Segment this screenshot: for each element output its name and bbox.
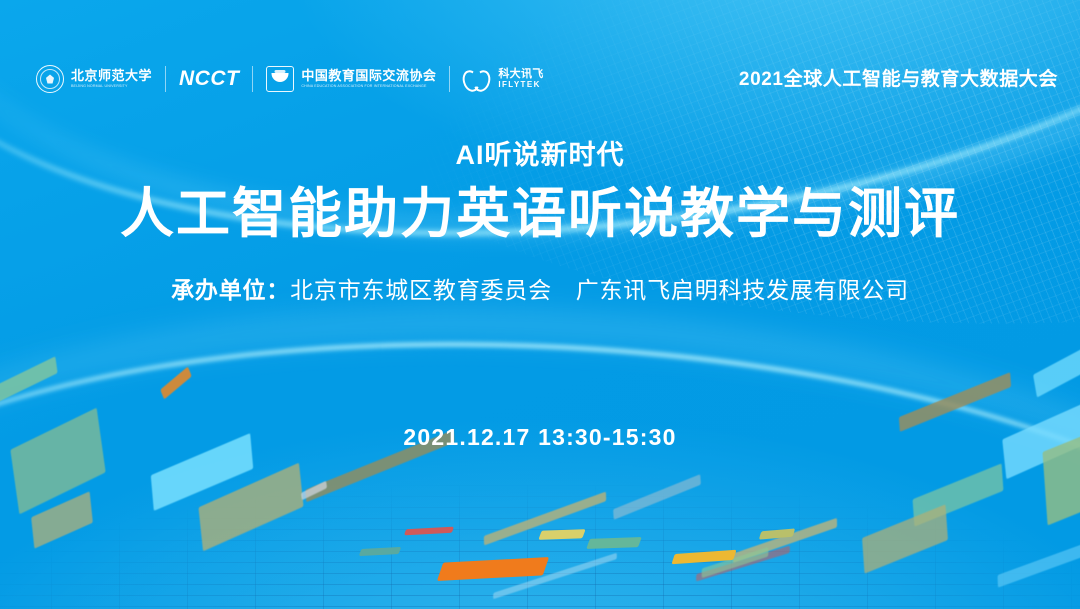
poster-main-content: AI听说新时代 人工智能助力英语听说教学与测评 承办单位：北京市东城区教育委员会… — [0, 138, 1080, 305]
decor-shard — [997, 544, 1080, 587]
decor-shard — [1033, 334, 1080, 397]
organizer-line: 承办单位：北京市东城区教育委员会 广东讯飞启明科技发展有限公司 — [0, 271, 1080, 305]
decor-shard — [31, 491, 93, 548]
logo-ceaie: 中国教育国际交流协会 CHINA EDUCATION ASSOCIATION F… — [253, 62, 449, 96]
decor-shard — [862, 504, 948, 573]
logo-iflytek-text: 科大讯飞 IFLYTEK — [498, 69, 543, 89]
decor-shard — [733, 518, 837, 563]
decor-shard — [913, 463, 1004, 526]
iflytek-logo-icon — [463, 68, 491, 90]
decor-shard — [0, 356, 58, 403]
decor-shard — [484, 492, 606, 546]
decor-chip — [359, 547, 401, 556]
decor-shard — [160, 367, 192, 400]
ncct-wordmark-icon: NCCT — [179, 67, 239, 91]
logo-ncct: NCCT — [166, 62, 252, 96]
decor-shard — [696, 545, 790, 581]
event-datetime: 2021.12.17 13:30-15:30 — [0, 424, 1080, 451]
sponsor-logo-bar: 北京师范大学 BEIJING NORMAL UNIVERSITY NCCT 中国… — [36, 62, 557, 96]
university-seal-icon — [36, 65, 64, 93]
organizer-value: 北京市东城区教育委员会 广东讯飞启明科技发展有限公司 — [290, 277, 909, 303]
decor-chip — [404, 527, 454, 536]
decor-chip — [759, 528, 795, 539]
kicker-text: AI听说新时代 — [0, 138, 1080, 173]
decor-chip — [671, 550, 736, 565]
logo-ceaie-cn: 中国教育国际交流协会 — [301, 69, 436, 83]
conference-poster: 北京师范大学 BEIJING NORMAL UNIVERSITY NCCT 中国… — [0, 0, 1080, 609]
conference-title: 2021全球人工智能与教育大数据大会 — [739, 64, 1058, 91]
logo-ceaie-en: CHINA EDUCATION ASSOCIATION FOR INTERNAT… — [301, 85, 436, 89]
decor-shard — [493, 553, 617, 599]
logo-bnu-cn: 北京师范大学 — [71, 69, 152, 83]
decor-shard — [301, 481, 327, 501]
logo-bnu: 北京师范大学 BEIJING NORMAL UNIVERSITY — [36, 62, 165, 96]
organizer-label: 承办单位： — [171, 277, 290, 303]
decor-shard — [702, 547, 769, 578]
logo-iflytek-cn: 科大讯飞 — [498, 69, 543, 80]
logo-iflytek: 科大讯飞 IFLYTEK — [450, 62, 556, 96]
ceaie-emblem-icon — [266, 66, 294, 92]
logo-bnu-en: BEIJING NORMAL UNIVERSITY — [71, 85, 152, 89]
decor-chip — [437, 557, 549, 581]
decor-shard — [613, 474, 701, 520]
logo-iflytek-en: IFLYTEK — [498, 81, 543, 89]
decor-chip — [538, 529, 585, 540]
bottom-arc-highlight — [0, 305, 1080, 609]
logo-bnu-text: 北京师范大学 BEIJING NORMAL UNIVERSITY — [71, 69, 152, 88]
logo-ceaie-text: 中国教育国际交流协会 CHINA EDUCATION ASSOCIATION F… — [301, 69, 436, 88]
decor-chip — [586, 537, 642, 549]
page-title: 人工智能助力英语听说教学与测评 — [0, 183, 1080, 247]
decor-shard — [899, 372, 1011, 432]
perspective-grid-floor — [0, 485, 1080, 609]
poster-header: 北京师范大学 BEIJING NORMAL UNIVERSITY NCCT 中国… — [0, 0, 1080, 140]
decor-shard — [198, 463, 303, 552]
